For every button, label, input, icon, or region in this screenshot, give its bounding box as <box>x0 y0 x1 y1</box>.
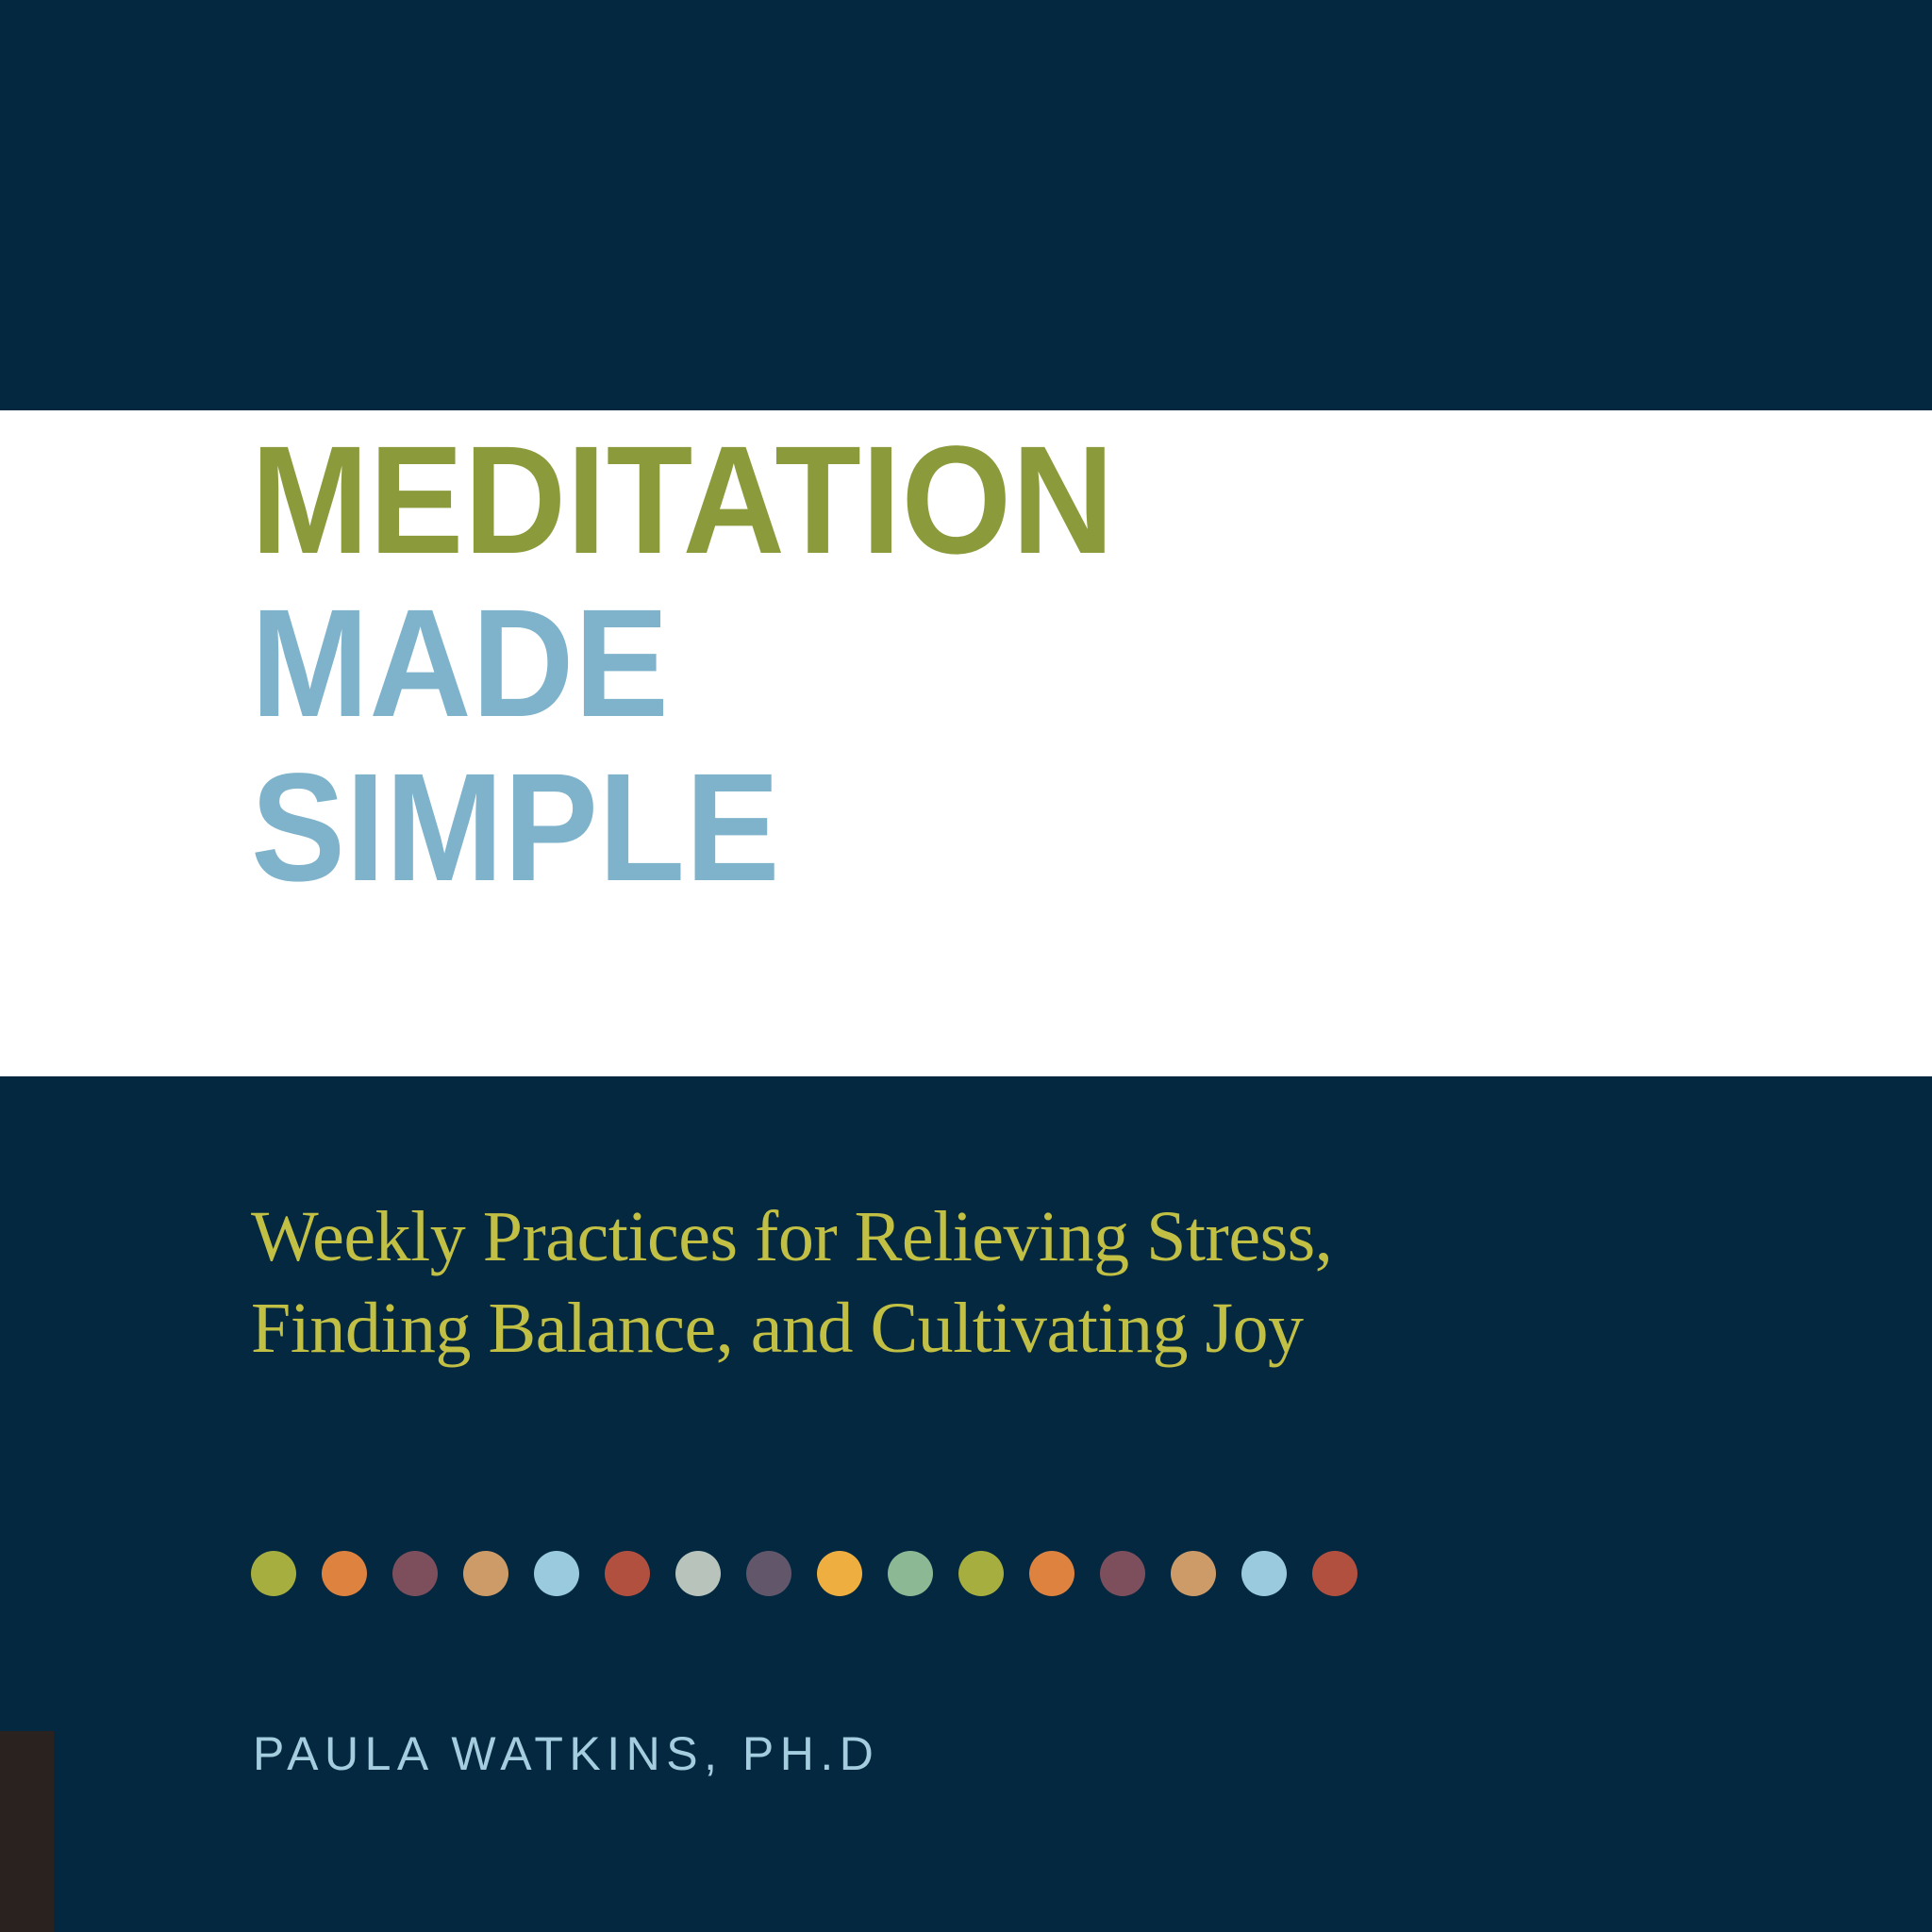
dot-plum-1 <box>392 1551 438 1596</box>
subtitle-line-1: Weekly Practices for Relieving Stress, <box>251 1191 1779 1283</box>
dot-orange-2 <box>1029 1551 1074 1596</box>
title-line-made: MADE <box>251 590 1726 737</box>
subtitle-line-2: Finding Balance, and Cultivating Joy <box>251 1283 1779 1374</box>
dot-olive-1 <box>251 1551 296 1596</box>
dot-brick-1 <box>605 1551 650 1596</box>
decorative-dots-row <box>251 1551 1357 1596</box>
dot-olive-2 <box>958 1551 1004 1596</box>
author-name: PAULA WATKINS, PH.D <box>253 1726 879 1781</box>
dot-sagegray-1 <box>675 1551 721 1596</box>
dot-plum-2 <box>1100 1551 1145 1596</box>
dot-brick-2 <box>1312 1551 1357 1596</box>
dot-tan-2 <box>1171 1551 1216 1596</box>
dot-sagegreen-1 <box>888 1551 933 1596</box>
title-block: MEDITATION MADE SIMPLE <box>251 426 1855 901</box>
book-cover: MEDITATION MADE SIMPLE Weekly Practices … <box>0 0 1932 1932</box>
dot-lightblue-1 <box>534 1551 579 1596</box>
spine-edge-strip <box>0 1731 54 1932</box>
title-line-meditation: MEDITATION <box>251 426 1726 574</box>
dot-purple-1 <box>746 1551 791 1596</box>
title-line-simple: SIMPLE <box>251 754 1726 901</box>
subtitle-block: Weekly Practices for Relieving Stress, F… <box>251 1191 1779 1375</box>
dot-orange-1 <box>322 1551 367 1596</box>
dot-lightblue-2 <box>1241 1551 1287 1596</box>
dot-gold-1 <box>817 1551 862 1596</box>
dot-tan-1 <box>463 1551 508 1596</box>
